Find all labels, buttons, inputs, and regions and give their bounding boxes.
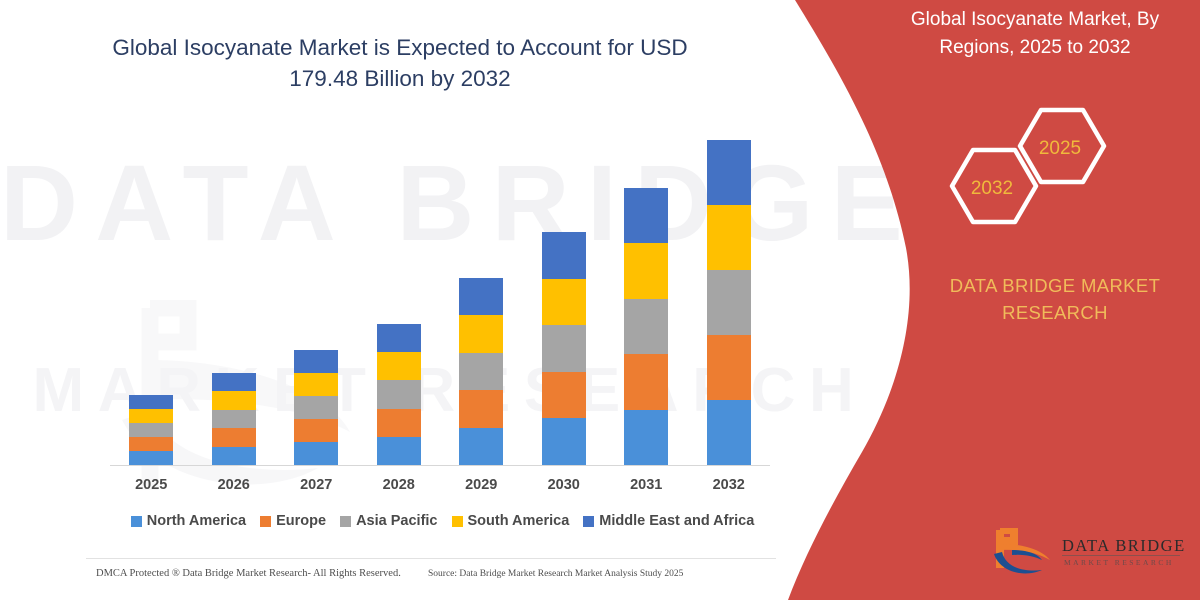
bar-segment-north-america[interactable] <box>542 418 586 465</box>
bar-segment-south-america[interactable] <box>294 373 338 396</box>
bar-segment-asia-pacific[interactable] <box>624 299 668 354</box>
logo-text-sub: MARKET RESEARCH <box>1064 558 1174 567</box>
bar-segment-europe[interactable] <box>294 419 338 442</box>
bar-segment-europe[interactable] <box>459 390 503 427</box>
bar-column-2031[interactable] <box>624 188 668 465</box>
legend-item-north-america[interactable]: North America <box>131 513 246 529</box>
bar-segment-middle-east-and-africa[interactable] <box>459 278 503 315</box>
bar-segment-europe[interactable] <box>377 409 421 437</box>
bar-segment-asia-pacific[interactable] <box>707 270 751 335</box>
bar-segment-north-america[interactable] <box>294 442 338 465</box>
bar-column-2025[interactable] <box>129 395 173 465</box>
panel-title: Global Isocyanate Market, By Regions, 20… <box>880 6 1190 62</box>
legend-label: North America <box>147 513 246 529</box>
logo-text-main: DATA BRIDGE <box>1062 536 1186 556</box>
bar-segment-europe[interactable] <box>624 354 668 409</box>
bar-segment-asia-pacific[interactable] <box>459 353 503 390</box>
legend-swatch-icon <box>583 516 594 527</box>
bar-segment-europe[interactable] <box>212 428 256 446</box>
bar-column-2026[interactable] <box>212 373 256 465</box>
legend-item-europe[interactable]: Europe <box>260 513 326 529</box>
bar-column-2027[interactable] <box>294 350 338 465</box>
bar-column-2030[interactable] <box>542 232 586 465</box>
bar-segment-asia-pacific[interactable] <box>129 423 173 437</box>
bar-segment-south-america[interactable] <box>707 205 751 270</box>
bar-segment-middle-east-and-africa[interactable] <box>129 395 173 409</box>
hexagon-year-badges: 2032 2025 <box>930 106 1130 226</box>
infographic-canvas: DATA BRIDGE MARKET RESEARCH Global Isocy… <box>0 0 1200 600</box>
bar-segment-north-america[interactable] <box>212 447 256 465</box>
bar-segment-south-america[interactable] <box>542 279 586 326</box>
x-axis-tick-2026: 2026 <box>194 477 274 493</box>
legend-item-south-america[interactable]: South America <box>452 513 570 529</box>
x-axis-tick-2031: 2031 <box>606 477 686 493</box>
chart-legend: North AmericaEuropeAsia PacificSouth Ame… <box>110 513 775 529</box>
data-bridge-logo: DATA BRIDGE MARKET RESEARCH <box>990 528 1190 584</box>
x-axis-tick-2028: 2028 <box>359 477 439 493</box>
bar-segment-north-america[interactable] <box>624 410 668 465</box>
hexagon-label-2025: 2025 <box>1020 138 1100 160</box>
hexagon-label-2032: 2032 <box>952 178 1032 200</box>
bar-column-2028[interactable] <box>377 324 421 465</box>
x-axis-labels: 20252026202720282029203020312032 <box>110 477 770 497</box>
bar-segment-middle-east-and-africa[interactable] <box>212 373 256 391</box>
bar-segment-south-america[interactable] <box>377 352 421 380</box>
panel-brand-name: DATA BRIDGE MARKET RESEARCH <box>930 272 1180 326</box>
data-bridge-logo-icon <box>990 528 1056 580</box>
legend-label: South America <box>468 513 570 529</box>
legend-item-asia-pacific[interactable]: Asia Pacific <box>340 513 437 529</box>
legend-label: Middle East and Africa <box>599 513 754 529</box>
legend-swatch-icon <box>452 516 463 527</box>
bar-segment-north-america[interactable] <box>459 428 503 465</box>
footer-dmca-text: DMCA Protected ® Data Bridge Market Rese… <box>96 568 401 579</box>
bar-segment-asia-pacific[interactable] <box>294 396 338 419</box>
bar-segment-europe[interactable] <box>707 335 751 400</box>
bar-segment-middle-east-and-africa[interactable] <box>377 324 421 352</box>
bar-segment-asia-pacific[interactable] <box>542 325 586 372</box>
x-axis-tick-2030: 2030 <box>524 477 604 493</box>
legend-label: Asia Pacific <box>356 513 437 529</box>
footer-divider <box>86 558 776 559</box>
bar-column-2029[interactable] <box>459 278 503 465</box>
bar-segment-north-america[interactable] <box>129 451 173 465</box>
footer-source-text: Source: Data Bridge Market Research Mark… <box>428 569 683 579</box>
bar-segment-south-america[interactable] <box>212 391 256 409</box>
x-axis-line <box>110 465 770 466</box>
bar-segment-north-america[interactable] <box>707 400 751 465</box>
bar-segment-middle-east-and-africa[interactable] <box>707 140 751 205</box>
legend-item-middle-east-and-africa[interactable]: Middle East and Africa <box>583 513 754 529</box>
legend-swatch-icon <box>260 516 271 527</box>
chart-plot-area <box>110 140 770 466</box>
chart-title: Global Isocyanate Market is Expected to … <box>90 32 710 94</box>
legend-swatch-icon <box>340 516 351 527</box>
bar-segment-south-america[interactable] <box>459 315 503 352</box>
legend-swatch-icon <box>131 516 142 527</box>
bar-segment-europe[interactable] <box>542 372 586 419</box>
bar-segment-middle-east-and-africa[interactable] <box>542 232 586 279</box>
bar-segment-europe[interactable] <box>129 437 173 451</box>
bar-segment-north-america[interactable] <box>377 437 421 465</box>
x-axis-tick-2025: 2025 <box>111 477 191 493</box>
x-axis-tick-2029: 2029 <box>441 477 521 493</box>
x-axis-tick-2032: 2032 <box>689 477 769 493</box>
bar-segment-asia-pacific[interactable] <box>377 380 421 408</box>
x-axis-tick-2027: 2027 <box>276 477 356 493</box>
bar-column-2032[interactable] <box>707 140 751 465</box>
bar-segment-middle-east-and-africa[interactable] <box>624 188 668 243</box>
bar-segment-asia-pacific[interactable] <box>212 410 256 428</box>
legend-label: Europe <box>276 513 326 529</box>
bar-segment-south-america[interactable] <box>129 409 173 423</box>
bar-segment-middle-east-and-africa[interactable] <box>294 350 338 373</box>
bar-segment-south-america[interactable] <box>624 243 668 298</box>
